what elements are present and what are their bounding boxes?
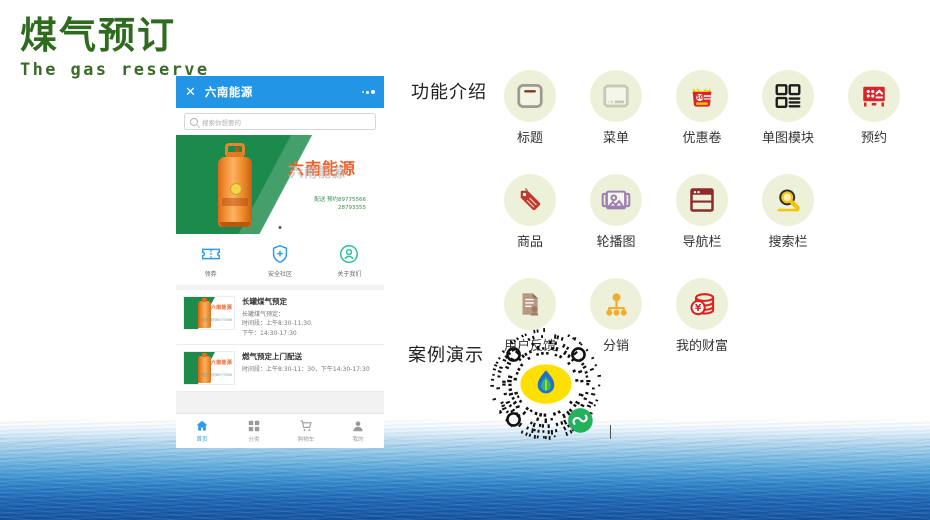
thumb-brand-text: 六南能源 <box>211 304 232 311</box>
product-thumbnail: 六南能源 配送 预约89775566 <box>183 296 235 330</box>
gas-cylinder-image <box>218 143 252 227</box>
product-thumbnail: 六南能源 配送 预约89775566 <box>183 351 235 385</box>
product-desc: 长罐煤气预定： 时间段：上午8:30-11:30. 下午：14:30-17:30 <box>242 310 377 338</box>
feature-icon-circle <box>504 278 556 330</box>
tab-label: 分类 <box>248 435 259 443</box>
feature-icon-circle <box>762 174 814 226</box>
feature-product[interactable]: 商品 <box>487 174 573 250</box>
slide-canvas: 煤气预订 The gas reserve ✕ 六南能源 搜索你想要的 六南能源 <box>0 0 930 520</box>
wechat-miniprogram-qr-code[interactable] <box>487 328 605 446</box>
text-cursor <box>610 425 611 439</box>
feature-icon-circle <box>676 174 728 226</box>
feature-label: 搜索栏 <box>768 231 807 250</box>
feature-label: 我的财富 <box>676 335 728 354</box>
tab-cart[interactable]: 购物车 <box>280 419 332 443</box>
menu-screen-icon <box>601 81 631 111</box>
hero-banner[interactable]: 六南能源 六南能源 配送 预约89775566 28793355 <box>176 135 384 234</box>
feedback-document-icon <box>515 289 545 319</box>
shield-plus-icon <box>269 243 291 265</box>
tab-label: 首页 <box>196 435 207 443</box>
search-input[interactable]: 搜索你想要的 <box>184 113 376 130</box>
thumb-brand-text: 六南能源 <box>211 359 232 366</box>
banner-brand-text: 六南能源 六南能源 <box>288 155 356 179</box>
banner-contact-text: 配送 预约89775566 28793355 <box>288 197 366 213</box>
quick-link-label: 关于我们 <box>337 269 361 278</box>
tab-category[interactable]: 分类 <box>228 419 280 443</box>
feature-icon-circle <box>504 174 556 226</box>
banner-ghost-text: 六南能源 <box>290 162 346 181</box>
features-row: 标题 菜单 50 <box>487 70 917 146</box>
title-block-icon <box>515 81 545 111</box>
feature-icon-circle <box>590 278 642 330</box>
single-image-grid-icon <box>773 81 803 111</box>
search-bar-container: 搜索你想要的 <box>176 108 384 135</box>
feature-icon-circle <box>590 174 642 226</box>
product-list: 六南能源 配送 预约89775566 长罐煤气预定 长罐煤气预定： 时间段：上午… <box>176 290 384 392</box>
tab-profile[interactable]: 我的 <box>332 419 384 443</box>
coupon-pouch-icon: 50 <box>686 80 718 112</box>
feature-icon-circle <box>762 70 814 122</box>
feature-label: 菜单 <box>603 127 629 146</box>
miniapp-header: ✕ 六南能源 <box>176 76 384 108</box>
product-desc: 时间段：上午8:30-11：30，下午14:30-17:30 <box>242 365 377 374</box>
ocean-background-image <box>0 420 930 520</box>
feature-icon-circle <box>848 70 900 122</box>
list-item[interactable]: 六南能源 配送 预约89775566 长罐煤气预定 长罐煤气预定： 时间段：上午… <box>176 290 384 345</box>
features-heading: 功能介绍 <box>411 78 487 104</box>
tab-home[interactable]: 首页 <box>176 419 228 443</box>
quick-link-about-us[interactable]: 关于我们 <box>315 243 384 278</box>
carousel-icon <box>600 184 632 216</box>
person-icon <box>351 419 365 433</box>
svg-text:50: 50 <box>696 95 703 101</box>
feature-title-block[interactable]: 标题 <box>487 70 573 146</box>
svg-text:¥: ¥ <box>694 303 701 314</box>
more-dots-icon[interactable] <box>362 90 375 94</box>
user-circle-icon <box>338 243 360 265</box>
quick-links-row: 领券 安全社区 关于我们 <box>176 234 384 285</box>
bottom-tabbar: 首页 分类 购物车 我的 <box>176 413 384 448</box>
feature-my-wealth[interactable]: ¥ 我的财富 <box>659 278 745 354</box>
product-title: 燃气预定上门配送 <box>242 351 377 362</box>
tab-label: 购物车 <box>298 435 315 443</box>
cart-icon <box>299 419 313 433</box>
product-title: 长罐煤气预定 <box>242 296 377 307</box>
feature-label: 商品 <box>517 231 543 250</box>
feature-icon-circle <box>504 70 556 122</box>
page-title: 煤气预订 <box>20 16 210 56</box>
quick-link-coupon[interactable]: 领券 <box>176 243 245 278</box>
feature-label: 导航栏 <box>682 231 721 250</box>
distribution-tree-icon <box>601 289 632 320</box>
feature-icon-circle: 50 <box>676 70 728 122</box>
features-row: 商品 轮播图 <box>487 174 917 250</box>
feature-navbar[interactable]: 导航栏 <box>659 174 745 250</box>
home-icon <box>195 419 209 433</box>
feature-menu[interactable]: 菜单 <box>573 70 659 146</box>
feature-single-image-module[interactable]: 单图模块 <box>745 70 831 146</box>
case-demo-heading: 案例演示 <box>408 341 484 367</box>
search-bar-icon <box>773 185 804 216</box>
navbar-window-icon <box>687 185 717 215</box>
features-grid: 标题 菜单 50 <box>487 70 917 354</box>
feature-label: 分销 <box>603 335 629 354</box>
feature-reservation[interactable]: 预约 <box>831 70 917 146</box>
miniapp-title: 六南能源 <box>205 84 253 100</box>
phone-mockup: ✕ 六南能源 搜索你想要的 六南能源 六南能源 配送 预约89775566 28… <box>176 76 384 448</box>
close-x-icon[interactable]: ✕ <box>185 86 196 99</box>
feature-label: 单图模块 <box>762 127 814 146</box>
price-tag-icon <box>515 185 545 215</box>
thumb-sub-text: 配送 预约89775566 <box>202 372 232 377</box>
reservation-calendar-icon <box>859 81 889 111</box>
list-item[interactable]: 六南能源 配送 预约89775566 燃气预定上门配送 时间段：上午8:30-1… <box>176 345 384 392</box>
radial-qr-icon <box>487 328 605 446</box>
feature-coupon[interactable]: 50 优惠卷 <box>659 70 745 146</box>
quick-link-label: 安全社区 <box>268 269 292 278</box>
banner-wedge-accent <box>176 135 384 234</box>
feature-icon-circle <box>590 70 642 122</box>
carousel-dot[interactable] <box>279 226 282 229</box>
feature-label: 优惠卷 <box>682 127 721 146</box>
feature-icon-circle: ¥ <box>676 278 728 330</box>
ticket-icon <box>200 243 222 265</box>
feature-label: 轮播图 <box>596 231 635 250</box>
grid-icon <box>247 419 261 433</box>
wealth-coins-icon: ¥ <box>687 289 718 320</box>
feature-label: 标题 <box>517 127 543 146</box>
thumb-sub-text: 配送 预约89775566 <box>202 317 232 322</box>
search-icon <box>190 118 198 126</box>
feature-carousel[interactable]: 轮播图 <box>573 174 659 250</box>
search-placeholder: 搜索你想要的 <box>202 117 241 127</box>
tab-label: 我的 <box>352 435 363 443</box>
feature-search-bar[interactable]: 搜索栏 <box>745 174 831 250</box>
brand-title-block: 煤气预订 The gas reserve <box>20 16 210 80</box>
quick-link-safe-community[interactable]: 安全社区 <box>245 243 314 278</box>
feature-label: 预约 <box>861 127 887 146</box>
quick-link-label: 领券 <box>205 269 217 278</box>
